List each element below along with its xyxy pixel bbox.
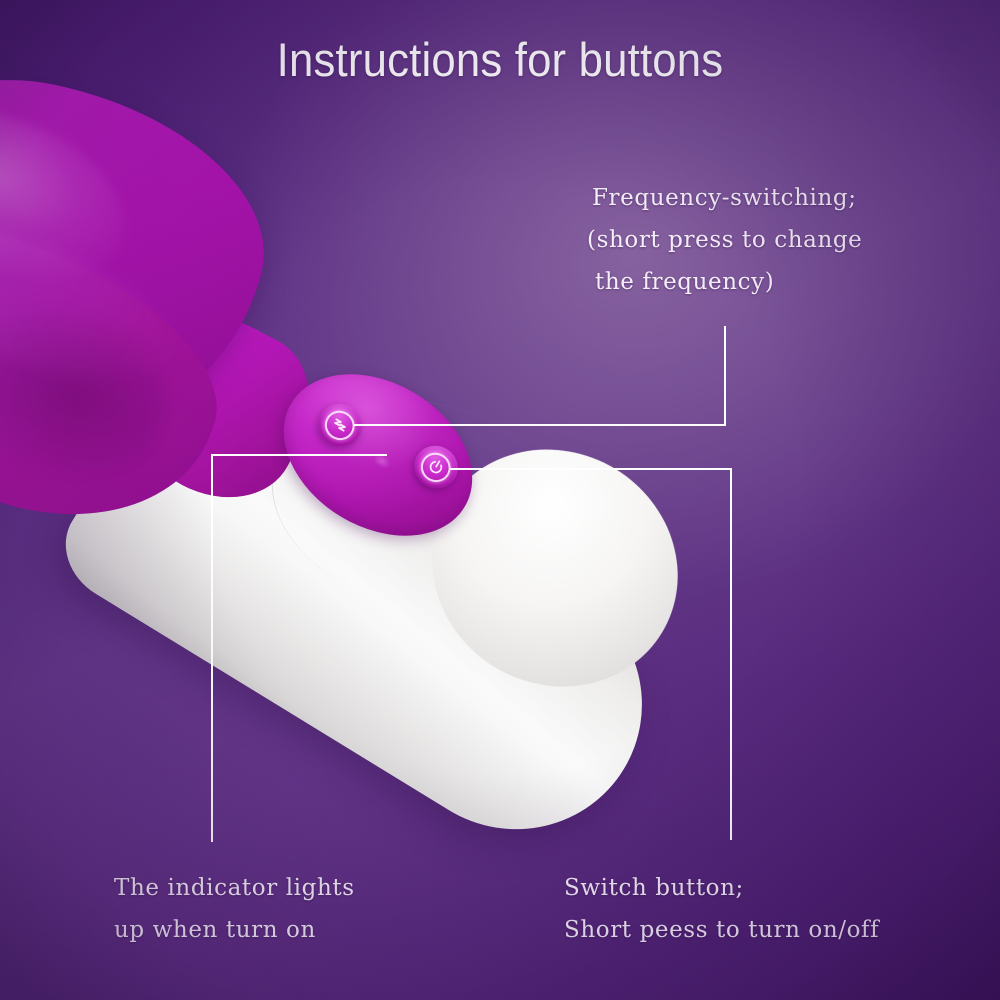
callout-switch-line-2: Short peess to turn on/off [564,910,879,952]
product-arm-highlight [0,79,149,312]
product-body-tip [388,404,722,732]
power-button-ring [416,447,457,487]
leader-line-frequency-horizontal [354,424,726,426]
leader-line-switch-vertical [730,468,732,840]
leader-line-indicator-vertical [211,454,213,842]
vignette-overlay [0,0,1000,1000]
leader-line-indicator-horizontal [211,454,387,456]
product-white-body [46,349,689,877]
callout-indicator: The indicator lights up when turn on [114,868,355,952]
callout-frequency: Frequency-switching; (short press to cha… [592,178,862,304]
product-purple-collar [89,283,338,524]
product-silicone-arm [0,38,293,465]
body-drop-shadow [239,470,680,800]
product-arm-fold-highlight [0,190,190,406]
leader-line-frequency-vertical [724,326,726,426]
product-illustration [0,0,1000,1000]
wave-frequency-icon [328,413,353,438]
instruction-graphic: Instructions for buttons Frequency-switc… [0,0,1000,1000]
page-title: Instructions for buttons [35,34,965,86]
callout-frequency-line-3: the frequency) [595,262,862,304]
frequency-button-ring [320,405,361,445]
callout-frequency-line-2: (short press to change [587,220,862,262]
product-arm-shadow [0,272,190,508]
product-body-seam [241,345,604,666]
product-silicone-arm-lower [0,178,250,562]
power-button[interactable] [406,438,465,497]
callout-switch-line-1: Switch button; [564,868,879,910]
callout-switch: Switch button; Short peess to turn on/of… [564,868,879,952]
callout-indicator-line-2: up when turn on [114,910,355,952]
control-panel-pad [254,341,501,568]
leader-line-switch-horizontal [450,468,732,470]
callout-indicator-line-1: The indicator lights [114,868,355,910]
power-icon [424,455,449,480]
callout-frequency-line-1: Frequency-switching; [592,178,862,220]
frequency-button[interactable] [310,396,369,455]
indicator-light [371,451,393,471]
